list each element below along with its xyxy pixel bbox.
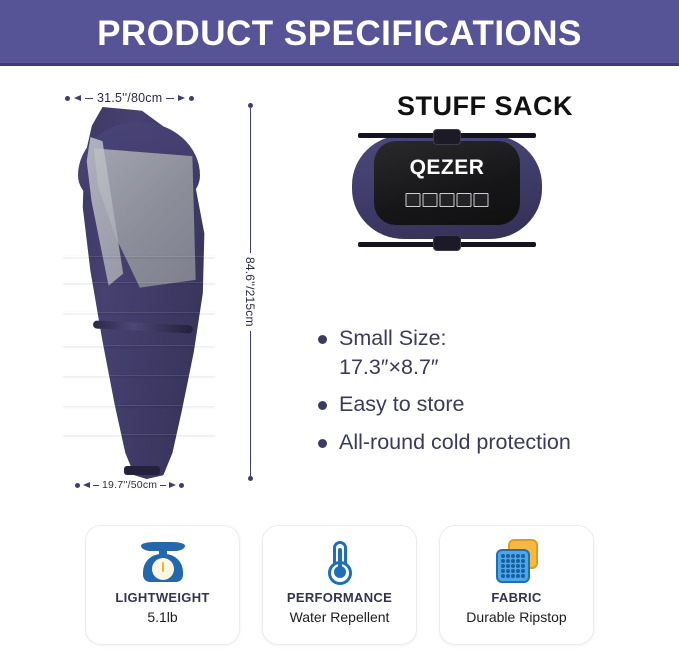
bag-baffle-line — [63, 434, 215, 435]
list-item: Small Size: 17.3″×8.7″ — [318, 324, 668, 381]
dimension-line — [166, 98, 174, 99]
care-symbol-wash-icon — [406, 193, 421, 207]
feature-card-value: Durable Ripstop — [466, 609, 566, 626]
bag-baffle-line — [63, 405, 215, 406]
care-symbol-dry-icon — [440, 193, 455, 207]
bag-foot-tab — [124, 466, 160, 475]
feature-card-value: Water Repellent — [290, 609, 390, 626]
feature-card-lightweight: LIGHTWEIGHT 5.1lb — [85, 525, 240, 645]
list-item: Easy to store — [318, 390, 668, 419]
dimension-label-height: 84.6''/215cm — [243, 253, 257, 331]
list-item: All-round cold protection — [318, 428, 668, 457]
bullet-label: All-round cold protection — [339, 428, 571, 457]
sack-buckle-top-icon — [433, 129, 461, 145]
dimension-label-width-top: 31.5''/80cm — [97, 91, 162, 105]
feature-card-title: FABRIC — [491, 590, 541, 606]
dimension-line — [250, 108, 251, 253]
bullet-label: Small Size: — [339, 326, 447, 350]
stuff-sack-image: QEZER — [352, 129, 542, 249]
thermometer-bulb-fill — [334, 566, 346, 578]
sack-logo-panel: QEZER — [374, 141, 520, 225]
dimension-width-bottom: 19.7''/50cm — [75, 477, 205, 493]
bullet-dot-icon — [318, 439, 327, 448]
sleeping-bag-image — [63, 107, 215, 479]
stuff-sack-section: STUFF SACK QEZER S — [300, 79, 670, 509]
page-title: PRODUCT SPECIFICATIONS — [97, 16, 582, 51]
dimension-endpoint-dot — [248, 476, 253, 481]
dimension-endpoint-dot — [65, 96, 70, 101]
thermometer-icon — [315, 536, 365, 586]
dimension-line — [85, 98, 93, 99]
bullet-dot-icon — [318, 335, 327, 344]
feature-card-fabric: FABRIC Durable Ripstop — [439, 525, 594, 645]
dimension-line — [93, 485, 99, 486]
feature-card-performance: PERFORMANCE Water Repellent — [262, 525, 417, 645]
dimension-line — [160, 485, 166, 486]
care-symbol-professional-icon — [474, 193, 489, 207]
feature-card-title: LIGHTWEIGHT — [115, 590, 209, 606]
fabric-swatch-front — [496, 549, 530, 583]
bag-baffle-line — [63, 375, 215, 376]
sleeping-bag-figure: 31.5''/80cm 84.6''/215cm — [55, 79, 265, 509]
arrow-right-icon — [169, 482, 176, 488]
care-symbols-row — [406, 193, 489, 207]
feature-bullet-list: Small Size: 17.3″×8.7″ Easy to store All… — [318, 324, 668, 465]
bullet-label: Easy to store — [339, 390, 464, 419]
feature-cards-row: LIGHTWEIGHT 5.1lb PERFORMANCE Water Repe… — [0, 525, 679, 650]
feature-card-title: PERFORMANCE — [287, 590, 392, 606]
main-content: 31.5''/80cm 84.6''/215cm — [0, 69, 679, 509]
arrow-left-icon — [74, 95, 81, 101]
sack-buckle-bottom-icon — [433, 235, 461, 251]
stuff-sack-title: STUFF SACK — [300, 91, 670, 122]
dimension-width-top: 31.5''/80cm — [65, 89, 215, 107]
dimension-line — [250, 331, 251, 476]
header-divider — [0, 63, 679, 66]
care-symbol-iron-icon — [457, 193, 472, 207]
feature-card-value: 5.1lb — [147, 609, 177, 626]
dimension-endpoint-dot — [75, 483, 80, 488]
bullet-dot-icon — [318, 401, 327, 410]
arrow-right-icon — [178, 95, 185, 101]
dimension-label-width-bottom: 19.7''/50cm — [102, 479, 157, 491]
dimension-endpoint-dot — [189, 96, 194, 101]
bag-baffle-line — [63, 282, 215, 283]
bag-baffle-line — [63, 345, 215, 346]
scale-needle — [162, 562, 164, 572]
bag-baffle-line — [63, 256, 215, 257]
brand-logo-text: QEZER — [374, 157, 520, 178]
header-banner: PRODUCT SPECIFICATIONS — [0, 0, 679, 66]
kitchen-scale-icon — [138, 536, 188, 586]
care-symbol-bleach-icon — [423, 193, 438, 207]
dimension-height-right: 84.6''/215cm — [237, 103, 263, 481]
bag-baffle-line — [63, 312, 215, 313]
bullet-sublabel: 17.3″×8.7″ — [339, 353, 447, 382]
dimension-endpoint-dot — [179, 483, 184, 488]
arrow-left-icon — [83, 482, 90, 488]
ripstop-fabric-icon — [492, 536, 542, 586]
